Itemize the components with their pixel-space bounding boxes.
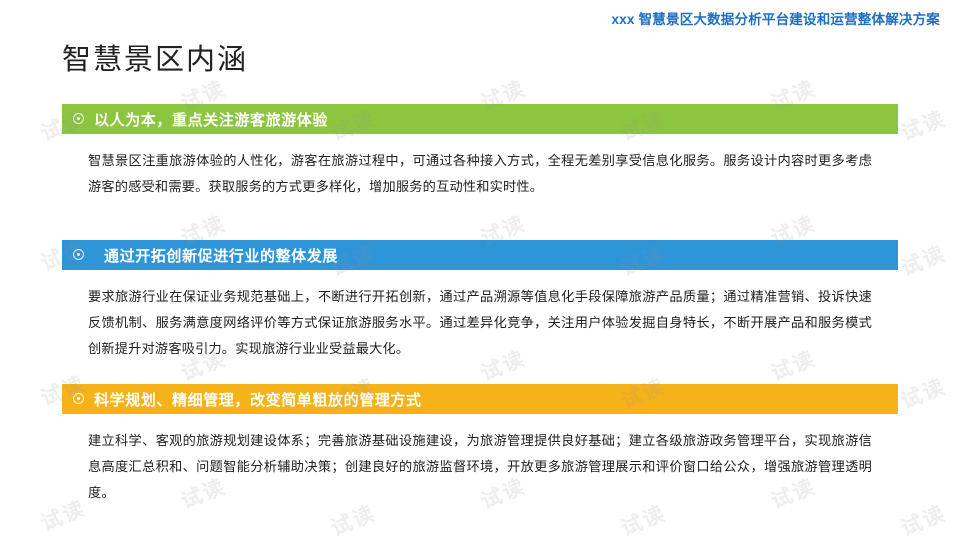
watermark-text: 试读 — [896, 497, 950, 540]
section-header-1: 以人为本，重点关注游客旅游体验 — [62, 104, 898, 134]
section-block-3: 科学规划、精细管理，改变简单粗放的管理方式 建立科学、客观的旅游规划建设体系；完… — [62, 384, 898, 506]
section-header-3: 科学规划、精细管理，改变简单粗放的管理方式 — [62, 384, 898, 414]
target-circle-icon — [72, 112, 86, 126]
section-title-3: 科学规划、精细管理，改变简单粗放的管理方式 — [94, 389, 422, 410]
target-circle-icon — [72, 392, 86, 406]
section-body-1: 智慧景区注重旅游体验的人性化，游客在旅游过程中，可通过各种接入方式，全程无差别享… — [62, 134, 898, 200]
slide-canvas: xxx 智慧景区大数据分析平台建设和运营整体解决方案 智慧景区内涵 以人为本，重… — [0, 0, 960, 540]
section-block-1: 以人为本，重点关注游客旅游体验 智慧景区注重旅游体验的人性化，游客在旅游过程中，… — [62, 104, 898, 200]
deck-title: xxx 智慧景区大数据分析平台建设和运营整体解决方案 — [612, 8, 940, 28]
watermark-text: 试读 — [896, 370, 950, 415]
header-bar: xxx 智慧景区大数据分析平台建设和运营整体解决方案 — [0, 0, 960, 30]
section-title-2: 通过开拓创新促进行业的整体发展 — [94, 245, 338, 266]
section-body-2: 要求旅游行业在保证业务规范基础上，不断进行开拓创新，通过产品溯源等值息化手段保障… — [62, 270, 898, 362]
section-block-2: 通过开拓创新促进行业的整体发展 要求旅游行业在保证业务规范基础上，不断进行开拓创… — [62, 240, 898, 362]
watermark-text: 试读 — [896, 102, 950, 147]
target-circle-icon — [72, 248, 86, 262]
page-title: 智慧景区内涵 — [62, 36, 248, 78]
section-title-1: 以人为本，重点关注游客旅游体验 — [94, 109, 328, 130]
watermark-text: 试读 — [896, 237, 950, 282]
section-body-3: 建立科学、客观的旅游规划建设体系；完善旅游基础设施建设，为旅游管理提供良好基础；… — [62, 414, 898, 506]
section-header-2: 通过开拓创新促进行业的整体发展 — [62, 240, 898, 270]
